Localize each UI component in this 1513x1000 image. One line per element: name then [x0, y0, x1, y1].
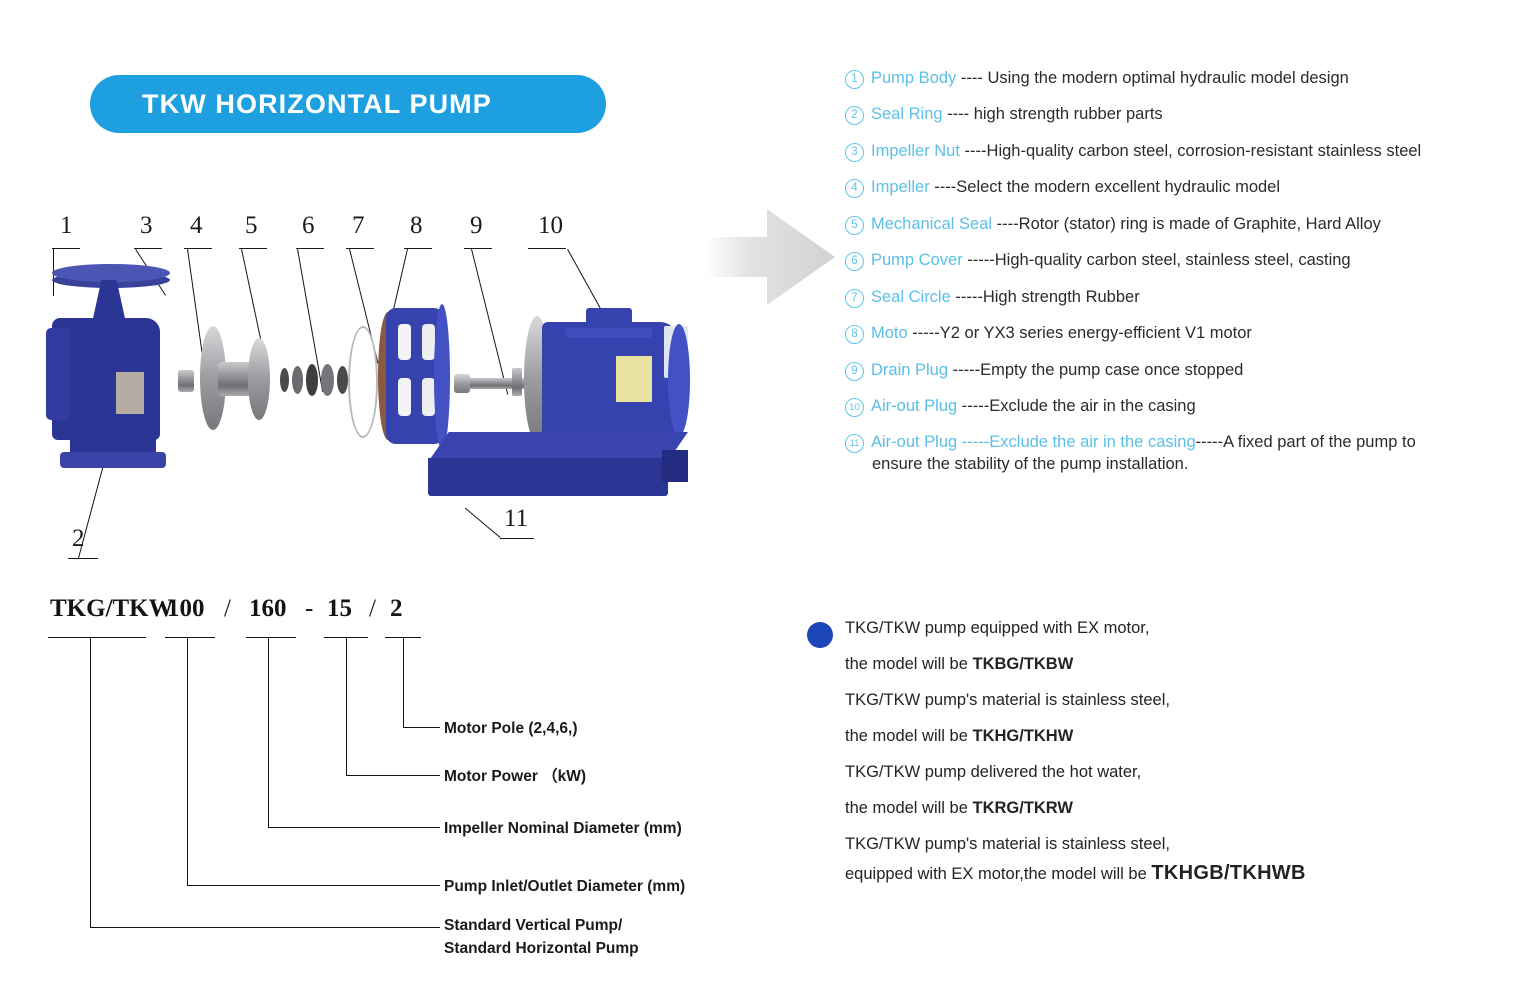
legend-part-name: Mechanical Seal	[871, 215, 992, 233]
seal-circle-ring	[348, 326, 378, 438]
impeller-shroud	[248, 338, 270, 420]
page-title: TKW HORIZONTAL PUMP	[142, 89, 492, 120]
motor-terminal-box	[586, 308, 632, 326]
legend-part-name: Impeller	[871, 178, 930, 196]
model-label-motor-power: Motor Power （kW)	[444, 766, 586, 788]
mechanical-seal-ring-d	[321, 364, 334, 396]
legend-part-name: Moto	[871, 324, 908, 342]
model-token-pole: 2	[390, 595, 403, 623]
legend-item: 9Drain Plug -----Empty the pump case onc…	[845, 360, 1495, 382]
model-token-impeller: 160	[249, 595, 287, 623]
model-leader-v-power	[346, 637, 347, 775]
callout-underline-10	[528, 248, 566, 249]
legend-part-name: Seal Ring	[871, 105, 943, 123]
callout-number-9: 9	[470, 212, 483, 240]
callout-leader-9	[471, 249, 509, 395]
legend-number: 6	[845, 252, 864, 271]
pump-cover-window-3	[422, 324, 435, 360]
note-model-code: TKHGB/TKHWB	[1151, 862, 1305, 884]
legend-separator: -----	[951, 288, 983, 306]
note-line: the model will be TKHG/TKHW	[845, 726, 1445, 748]
callout-underline-6	[296, 248, 324, 249]
legend-separator: ----	[992, 215, 1019, 233]
note-text: TKG/TKW pump's material is stainless ste…	[845, 691, 1170, 709]
legend-description-continued: ensure the stability of the pump install…	[872, 454, 1495, 476]
model-token-prefix: TKG/TKW	[50, 595, 174, 623]
legend-part-name: Pump Body	[871, 69, 956, 87]
model-naming-notes: TKG/TKW pump equipped with EX motor, the…	[845, 618, 1445, 900]
model-label-inlet-dia: Pump Inlet/Outlet Diameter (mm)	[444, 876, 685, 898]
model-token-power: 15	[327, 595, 352, 623]
legend-part-name: Impeller Nut	[871, 142, 960, 160]
callout-underline-4	[184, 248, 212, 249]
callout-number-4: 4	[190, 212, 203, 240]
model-token-inlet: 100	[167, 595, 205, 623]
model-leader-v-prefix	[90, 637, 91, 927]
note-text: TKG/TKW pump's material is stainless ste…	[845, 835, 1170, 853]
legend-item: 6Pump Cover -----High-quality carbon ste…	[845, 250, 1495, 272]
legend-item: 3Impeller Nut ----High-quality carbon st…	[845, 141, 1495, 163]
note-text: equipped with EX motor,the model will be	[845, 865, 1151, 883]
legend-description: Rotor (stator) ring is made of Graphite,…	[1019, 215, 1381, 233]
note-text: the model will be	[845, 727, 972, 745]
legend-separator: ----	[960, 142, 987, 160]
callout-underline-3	[134, 248, 162, 249]
legend-description: High-quality carbon steel, stainless ste…	[995, 251, 1351, 269]
legend-separator: ----	[930, 178, 957, 196]
legend-description-blue: -----Exclude the air in the casing	[957, 433, 1195, 451]
legend-separator: ----	[943, 105, 974, 123]
legend-number: 1	[845, 70, 864, 89]
model-leader-v-pole	[403, 637, 404, 727]
legend-description: Exclude the air in the casing	[989, 397, 1195, 415]
model-leader-h-impeller	[268, 827, 440, 828]
pump-cover-window-1	[398, 324, 411, 360]
pump-body-suction-flange	[46, 328, 70, 420]
legend-item: 2Seal Ring ---- high strength rubber par…	[845, 104, 1495, 126]
model-leader-h-inlet	[187, 885, 440, 886]
note-line: TKG/TKW pump delivered the hot water,	[845, 762, 1445, 784]
pump-body-base	[60, 452, 166, 468]
drain-plug	[512, 368, 522, 396]
note-line: equipped with EX motor,the model will be…	[845, 860, 1445, 887]
callout-underline-11	[500, 538, 534, 539]
legend-description: Using the modern optimal hydraulic model…	[987, 69, 1348, 87]
model-token-slash2: /	[369, 595, 376, 623]
callout-underline-5	[239, 248, 267, 249]
note-text: the model will be	[845, 799, 972, 817]
motor-shaft-step	[454, 374, 470, 393]
legend-item-11: 11Air-out Plug -----Exclude the air in t…	[845, 432, 1495, 476]
legend-description: Y2 or YX3 series energy-efficient V1 mot…	[940, 324, 1252, 342]
legend-number: 7	[845, 289, 864, 308]
model-leader-v-inlet	[187, 637, 188, 885]
legend-part-name: Air-out Plug	[871, 433, 957, 451]
legend-number: 8	[845, 325, 864, 344]
model-label-standard-pump-1: Standard Vertical Pump/	[444, 915, 622, 937]
model-leader-h-prefix	[90, 927, 440, 928]
callout-underline-1	[52, 248, 80, 249]
note-line: the model will be TKBG/TKBW	[845, 654, 1445, 676]
model-token-dash: -	[305, 595, 313, 623]
note-line: the model will be TKRG/TKRW	[845, 798, 1445, 820]
model-label-impeller-dia: Impeller Nominal Diameter (mm)	[444, 818, 682, 840]
model-leader-v-impeller	[268, 637, 269, 827]
callout-number-7: 7	[352, 212, 365, 240]
legend-item: 5Mechanical Seal ----Rotor (stator) ring…	[845, 214, 1495, 236]
title-banner: TKW HORIZONTAL PUMP	[90, 75, 606, 133]
parts-legend-list: 1Pump Body ---- Using the modern optimal…	[845, 68, 1495, 491]
legend-number: 2	[845, 106, 864, 125]
legend-number: 10	[845, 398, 864, 417]
pump-body-nameplate	[116, 372, 144, 414]
callout-number-6: 6	[302, 212, 315, 240]
mechanical-seal-ring-c	[306, 364, 318, 396]
legend-part-name: Seal Circle	[871, 288, 951, 306]
legend-item: 4Impeller ----Select the modern excellen…	[845, 177, 1495, 199]
callout-number-11: 11	[504, 505, 528, 533]
note-model-code: TKRG/TKRW	[972, 799, 1073, 817]
legend-number: 3	[845, 143, 864, 162]
note-model-code: TKBG/TKBW	[972, 655, 1073, 673]
note-text: TKG/TKW pump delivered the hot water,	[845, 763, 1141, 781]
model-code-diagram: TKG/TKW 100 / 160 - 15 / 2 Motor Pole (2…	[40, 595, 740, 965]
motor-housing	[542, 322, 678, 440]
note-text: the model will be	[845, 655, 972, 673]
legend-part-name: Pump Cover	[871, 251, 963, 269]
legend-description: high strength rubber parts	[974, 105, 1163, 123]
legend-part-name: Drain Plug	[871, 361, 948, 379]
mechanical-seal-ring-e	[337, 366, 348, 394]
model-label-motor-pole: Motor Pole (2,4,6,)	[444, 718, 578, 740]
legend-item: 8Moto -----Y2 or YX3 series energy-effic…	[845, 323, 1495, 345]
bullet-icon	[807, 622, 833, 648]
exploded-pump-diagram: 1 3 4 5 6 7 8 9 10 2 11	[30, 200, 730, 580]
legend-item: 7Seal Circle -----High strength Rubber	[845, 287, 1495, 309]
legend-number: 4	[845, 179, 864, 198]
callout-leader-11	[465, 507, 501, 538]
impeller-nut	[178, 370, 194, 392]
callout-number-10: 10	[538, 212, 563, 240]
base-plate-front	[428, 458, 668, 496]
legend-separator: -----	[957, 397, 989, 415]
model-underline-prefix	[48, 637, 146, 638]
callout-number-1: 1	[60, 212, 73, 240]
model-leader-h-power	[346, 775, 440, 776]
motor-end-cap	[668, 324, 690, 436]
note-line: TKG/TKW pump equipped with EX motor,	[845, 618, 1445, 640]
legend-separator: -----	[948, 361, 980, 379]
legend-number: 5	[845, 216, 864, 235]
model-label-standard-pump-2: Standard Horizontal Pump	[444, 938, 639, 960]
base-plate-side	[662, 450, 688, 482]
note-line: TKG/TKW pump's material is stainless ste…	[845, 834, 1445, 856]
note-model-code: TKHG/TKHW	[972, 727, 1073, 745]
callout-number-8: 8	[410, 212, 423, 240]
callout-number-5: 5	[245, 212, 258, 240]
pump-cover-window-2	[398, 378, 411, 416]
motor-cooling-fins	[566, 328, 652, 338]
callout-number-3: 3	[140, 212, 153, 240]
legend-description: High strength Rubber	[983, 288, 1140, 306]
legend-description: -----A fixed part of the pump to	[1196, 433, 1416, 451]
callout-underline-9	[464, 248, 492, 249]
legend-description: Select the modern excellent hydraulic mo…	[956, 178, 1280, 196]
legend-part-name: Air-out Plug	[871, 397, 957, 415]
pump-cover-flange	[434, 304, 450, 450]
section-arrow	[705, 205, 837, 309]
legend-number: 9	[845, 362, 864, 381]
legend-item: 10Air-out Plug -----Exclude the air in t…	[845, 396, 1495, 418]
model-underline-impeller	[246, 637, 296, 638]
legend-separator: -----	[963, 251, 995, 269]
motor-nameplate	[616, 356, 652, 402]
pump-body-flange-face	[52, 264, 170, 282]
mechanical-seal-ring-a	[280, 368, 289, 392]
model-leader-h-pole	[403, 727, 440, 728]
legend-description: High-quality carbon steel, corrosion-res…	[987, 142, 1422, 160]
mechanical-seal-ring-b	[292, 366, 303, 394]
note-text: TKG/TKW pump equipped with EX motor,	[845, 619, 1149, 637]
model-token-slash1: /	[224, 595, 231, 623]
model-underline-inlet	[165, 637, 215, 638]
right-arrow-icon	[705, 205, 837, 309]
callout-underline-2	[68, 558, 98, 559]
legend-item: 1Pump Body ---- Using the modern optimal…	[845, 68, 1495, 90]
note-line: TKG/TKW pump's material is stainless ste…	[845, 690, 1445, 712]
legend-number: 11	[845, 434, 864, 453]
legend-separator: -----	[908, 324, 940, 342]
legend-separator: ----	[956, 69, 987, 87]
legend-description: Empty the pump case once stopped	[980, 361, 1243, 379]
